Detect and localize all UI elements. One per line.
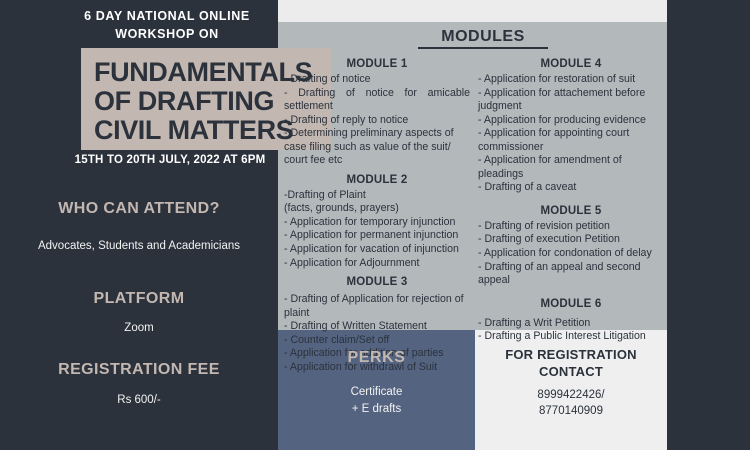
who-can-attend-body: Advocates, Students and Academicians [0, 238, 278, 255]
platform-body: Zoom [0, 320, 278, 337]
module-items: - Drafting of revision petition - Drafti… [478, 220, 664, 288]
perks-body: Certificate + E drafts [278, 384, 475, 419]
perks-title: PERKS [278, 349, 475, 367]
module-item: - Drafting of Application for rejection … [284, 293, 470, 320]
modules-left-column: MODULE 1 - Drafting of notice - Drafting… [284, 58, 470, 381]
module-item: - Drafting a Writ Petition [478, 317, 664, 331]
module-item: - Application for vacation of injunction [284, 243, 470, 257]
module-item: - Application for temporary injunction [284, 216, 470, 230]
registration-fee-heading: REGISTRATION FEE [0, 361, 278, 379]
perks-line-2: + E drafts [278, 401, 475, 418]
module-item: - Drafting of Written Statement [284, 320, 470, 334]
module-block: MODULE 4 - Application for restoration o… [478, 58, 664, 195]
module-item: - Application for appointing court commi… [478, 127, 664, 154]
module-item: - Drafting of execution Petition [478, 233, 664, 247]
module-item: - Application for restoration of suit [478, 73, 664, 87]
contact-numbers: 8999422426/ 8770140909 [475, 387, 667, 420]
module-item: - Application for condonation of delay [478, 247, 664, 261]
module-item: - Drafting of an appeal and second appea… [478, 261, 664, 288]
module-item: - Drafting of revision petition [478, 220, 664, 234]
module-item: - Drafting of notice [284, 73, 470, 87]
module-item: - Drafting of a caveat [478, 181, 664, 195]
workshop-kicker: 6 DAY NATIONAL ONLINE WORKSHOP ON [62, 8, 272, 44]
module-block: MODULE 2 -Drafting of Plaint (facts, gro… [284, 174, 470, 270]
module-item: - Drafting of notice for amicable settle… [284, 87, 470, 114]
module-block: MODULE 1 - Drafting of notice - Drafting… [284, 58, 470, 168]
modules-title: MODULES [418, 28, 548, 49]
modules-right-column: MODULE 4 - Application for restoration o… [478, 58, 664, 351]
module-heading: MODULE 4 [478, 58, 664, 70]
registration-fee-body: Rs 600/- [0, 392, 278, 409]
module-item: - Application for Adjournment [284, 257, 470, 271]
module-item: - Application for permanent injunction [284, 229, 470, 243]
module-item: - Determining preliminary aspects of cas… [284, 127, 470, 168]
perks-line-1: Certificate [278, 384, 475, 401]
module-item: - Application for producing evidence [478, 114, 664, 128]
module-heading: MODULE 1 [284, 58, 470, 70]
module-items: - Drafting a Writ Petition - Drafting a … [478, 317, 664, 344]
module-item: - Application for attachement before jud… [478, 87, 664, 114]
module-block: MODULE 5 - Drafting of revision petition… [478, 205, 664, 288]
module-item: - Counter claim/Set off [284, 334, 470, 348]
right-dark-band [667, 0, 750, 450]
module-item: (facts, grounds, prayers) [284, 202, 470, 216]
who-can-attend-heading: WHO CAN ATTEND? [0, 200, 278, 218]
module-item: -Drafting of Plaint [284, 189, 470, 203]
platform-heading: PLATFORM [0, 290, 278, 308]
module-items: - Application for restoration of suit - … [478, 73, 664, 195]
contact-title: FOR REGISTRATION CONTACT [475, 346, 667, 380]
module-heading: MODULE 3 [284, 276, 470, 288]
event-date: 15TH TO 20TH JULY, 2022 AT 6PM [62, 154, 278, 166]
module-heading: MODULE 2 [284, 174, 470, 186]
module-items: - Drafting of notice - Drafting of notic… [284, 73, 470, 168]
module-item: - Drafting of reply to notice [284, 114, 470, 128]
contact-phone-2: 8770140909 [475, 403, 667, 419]
contact-phone-1: 8999422426/ [475, 387, 667, 403]
module-heading: MODULE 5 [478, 205, 664, 217]
module-item: - Application for amendment of pleadings [478, 154, 664, 181]
module-block: MODULE 6 - Drafting a Writ Petition - Dr… [478, 298, 664, 344]
module-heading: MODULE 6 [478, 298, 664, 310]
module-item: - Drafting a Public Interest Litigation [478, 330, 664, 344]
top-light-strip [278, 0, 667, 22]
module-items: -Drafting of Plaint (facts, grounds, pra… [284, 189, 470, 270]
workshop-poster: 6 DAY NATIONAL ONLINE WORKSHOP ON FUNDAM… [0, 0, 750, 450]
